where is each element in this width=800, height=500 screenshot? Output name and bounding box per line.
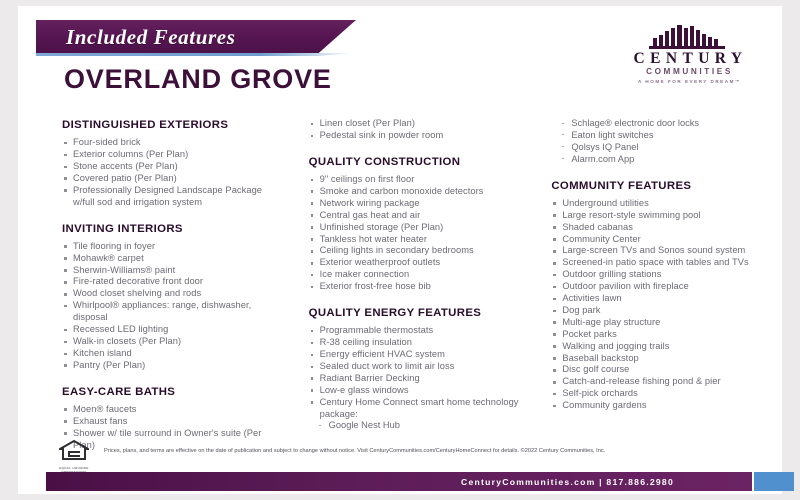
list-item: Baseball backstop xyxy=(551,353,762,365)
list-item: R-38 ceiling insulation xyxy=(309,337,522,349)
list-item: Pedestal sink in powder room xyxy=(309,130,522,142)
list-item: Whirlpool® appliances: range, dishwasher… xyxy=(62,300,286,324)
list-item: Smoke and carbon monoxide detectors xyxy=(309,186,522,198)
section-heading-inviting-interiors: INVITING INTERIORS xyxy=(62,222,286,237)
list-item: Disc golf course xyxy=(551,364,762,376)
list-item: Professionally Designed Landscape Packag… xyxy=(62,185,286,209)
list-item: Linen closet (Per Plan) xyxy=(309,118,522,130)
page-title: OVERLAND GROVE xyxy=(64,64,332,95)
features-columns: DISTINGUISHED EXTERIORS Four-sided brick… xyxy=(62,118,774,436)
section-heading-distinguished-exteriors: DISTINGUISHED EXTERIORS xyxy=(62,118,286,133)
footer-contact-bar: CenturyCommunities.com | 817.886.2980 xyxy=(46,472,752,491)
list-item: Mohawk® carpet xyxy=(62,253,286,265)
list-item: Energy efficient HVAC system xyxy=(309,349,522,361)
list-item: Screened-in patio space with tables and … xyxy=(551,257,762,269)
list-item: Century Home Connect smart home technolo… xyxy=(309,397,522,421)
list-item: Four-sided brick xyxy=(62,137,286,149)
list-item: Pocket parks xyxy=(551,329,762,341)
list-item: Central gas heat and air xyxy=(309,210,522,222)
logo-tagline: A HOME FOR EVERY DREAM™ xyxy=(606,78,770,85)
list-item: Kitchen island xyxy=(62,348,286,360)
smart-home-subitems-continued: Schlage® electronic door locks Eaton lig… xyxy=(551,118,762,166)
logo-wordmark: CENTURY xyxy=(606,51,770,67)
list-item: Exterior weatherproof outlets xyxy=(309,257,522,269)
logo-subtitle: COMMUNITIES xyxy=(606,67,770,78)
list-item: Stone accents (Per Plan) xyxy=(62,161,286,173)
feature-column-1: DISTINGUISHED EXTERIORS Four-sided brick… xyxy=(62,118,298,436)
section-heading-community-features: COMMUNITY FEATURES xyxy=(551,179,762,194)
feature-list-inviting-interiors: Tile flooring in foyer Mohawk® carpet Sh… xyxy=(62,241,286,372)
list-item: Community Center xyxy=(551,234,762,246)
list-item: Large-screen TVs and Sonos sound system xyxy=(551,245,762,257)
list-item: 9" ceilings on first floor xyxy=(309,174,522,186)
list-item: Moen® faucets xyxy=(62,404,286,416)
sub-list-item: Eaton light switches xyxy=(561,130,762,142)
list-item: Exterior frost-free hose bib xyxy=(309,281,522,293)
feature-list-easy-care-baths-continued: Linen closet (Per Plan) Pedestal sink in… xyxy=(309,118,522,142)
list-item: Fire-rated decorative front door xyxy=(62,276,286,288)
list-item: Exterior columns (Per Plan) xyxy=(62,149,286,161)
list-item: Programmable thermostats xyxy=(309,325,522,337)
banner-underline-rule xyxy=(36,53,356,56)
section-heading-easy-care-baths: EASY-CARE BATHS xyxy=(62,385,286,400)
sub-list-item: Qolsys IQ Panel xyxy=(561,142,762,154)
equal-housing-opportunity-icon xyxy=(59,440,89,461)
list-item: Underground utilities xyxy=(551,198,762,210)
sub-list-item: Google Nest Hub xyxy=(319,420,522,432)
feature-column-3: Schlage® electronic door locks Eaton lig… xyxy=(533,118,774,436)
flyer-page: Included Features OVERLAND GROVE CENTURY xyxy=(18,6,782,494)
sub-list-item: Alarm.com App xyxy=(561,154,762,166)
feature-list-quality-construction: 9" ceilings on first floor Smoke and car… xyxy=(309,174,522,293)
list-item: Network wiring package xyxy=(309,198,522,210)
list-item: Recessed LED lighting xyxy=(62,324,286,336)
feature-list-easy-care-baths: Moen® faucets Exhaust fans Shower w/ til… xyxy=(62,404,286,452)
footer-blue-accent-block xyxy=(754,472,794,491)
list-item: Ice maker connection xyxy=(309,269,522,281)
section-heading-quality-construction: QUALITY CONSTRUCTION xyxy=(309,155,522,170)
list-item: Outdoor grilling stations xyxy=(551,269,762,281)
list-item: Exhaust fans xyxy=(62,416,286,428)
list-item: Activities lawn xyxy=(551,293,762,305)
list-item: Tile flooring in foyer xyxy=(62,241,286,253)
included-features-banner: Included Features xyxy=(36,20,356,54)
feature-list-distinguished-exteriors: Four-sided brick Exterior columns (Per P… xyxy=(62,137,286,208)
century-communities-logo: CENTURY COMMUNITIES A HOME FOR EVERY DRE… xyxy=(606,24,770,85)
list-item: Radiant Barrier Decking xyxy=(309,373,522,385)
list-item: Shaded cabanas xyxy=(551,222,762,234)
list-item: Unfinished storage (Per Plan) xyxy=(309,222,522,234)
list-item: Low-e glass windows xyxy=(309,385,522,397)
list-item: Dog park xyxy=(551,305,762,317)
section-heading-quality-energy-features: QUALITY ENERGY FEATURES xyxy=(309,306,522,321)
equal-housing-opportunity-logo: EQUAL HOUSING OPPORTUNITY xyxy=(56,440,92,475)
footer-contact-text[interactable]: CenturyCommunities.com | 817.886.2980 xyxy=(461,477,752,487)
banner-title: Included Features xyxy=(36,25,235,50)
list-item: Tankless hot water heater xyxy=(309,234,522,246)
list-item: Self-pick orchards xyxy=(551,388,762,400)
list-item: Pantry (Per Plan) xyxy=(62,360,286,372)
list-item: Covered patio (Per Plan) xyxy=(62,173,286,185)
list-item: Ceiling lights in secondary bedrooms xyxy=(309,245,522,257)
list-item: Outdoor pavilion with fireplace xyxy=(551,281,762,293)
skyline-building-icon xyxy=(645,24,731,50)
smart-home-subitems: Google Nest Hub xyxy=(309,420,522,432)
list-item: Large resort-style swimming pool xyxy=(551,210,762,222)
list-item: Walk-in closets (Per Plan) xyxy=(62,336,286,348)
sub-list-item: Schlage® electronic door locks xyxy=(561,118,762,130)
list-item: Catch-and-release fishing pond & pier xyxy=(551,376,762,388)
list-item: Sealed duct work to limit air loss xyxy=(309,361,522,373)
disclaimer-text: Prices, plans, and terms are effective o… xyxy=(104,447,752,455)
list-item: Community gardens xyxy=(551,400,762,412)
feature-column-2: Linen closet (Per Plan) Pedestal sink in… xyxy=(298,118,534,436)
list-item: Walking and jogging trails xyxy=(551,341,762,353)
list-item: Sherwin-Williams® paint xyxy=(62,265,286,277)
list-item: Multi-age play structure xyxy=(551,317,762,329)
banner-shape: Included Features xyxy=(36,20,356,54)
list-item: Wood closet shelving and rods xyxy=(62,288,286,300)
feature-list-community-features: Underground utilities Large resort-style… xyxy=(551,198,762,412)
feature-list-quality-energy-features: Programmable thermostats R-38 ceiling in… xyxy=(309,325,522,420)
